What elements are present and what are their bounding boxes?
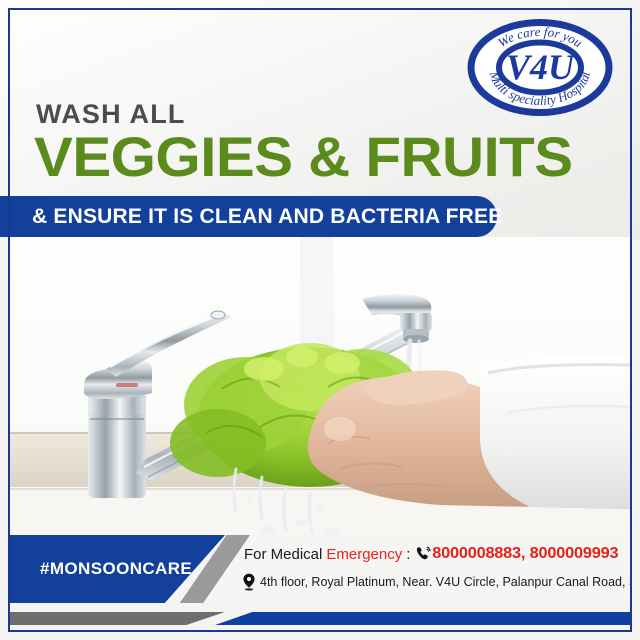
emergency-label: For Medical xyxy=(244,546,322,563)
location-pin-icon xyxy=(242,573,256,591)
hashtag-text: #MONSOONCARE xyxy=(10,559,192,579)
bottom-accent-strip xyxy=(10,612,630,625)
emergency-row: For Medical Emergency : 8000008883, 8000… xyxy=(244,545,617,563)
footer-panel: #MONSOONCARE For Medical Emergency : 800… xyxy=(10,535,630,603)
strip-blue-segment xyxy=(215,612,630,625)
emergency-phone-numbers[interactable]: 8000008883, 8000009993 xyxy=(430,545,619,563)
strip-grey-segment xyxy=(10,612,225,625)
logo-wordmark: V4U xyxy=(506,47,576,87)
address-row: 4th floor, Royal Platinum, Near. V4U Cir… xyxy=(242,573,630,591)
emergency-colon: : xyxy=(402,546,415,563)
subheadline-text: & ENSURE IT IS CLEAN AND BACTERIA FREE xyxy=(0,205,502,229)
poster-root: WASH ALL VEGGIES & FRUITS & ENSURE IT IS… xyxy=(0,0,640,640)
subheadline-bar: & ENSURE IT IS CLEAN AND BACTERIA FREE xyxy=(0,196,497,237)
emergency-accent-label: Emergency xyxy=(322,546,402,563)
clinic-address: 4th floor, Royal Platinum, Near. V4U Cir… xyxy=(256,575,630,589)
hero-photo xyxy=(10,237,630,535)
v4u-hospital-logo: We care for you Multi speciality Hospita… xyxy=(466,19,614,116)
contact-block: For Medical Emergency : 8000008883, 8000… xyxy=(242,535,630,603)
page-title: VEGGIES & FRUITS xyxy=(34,128,573,186)
